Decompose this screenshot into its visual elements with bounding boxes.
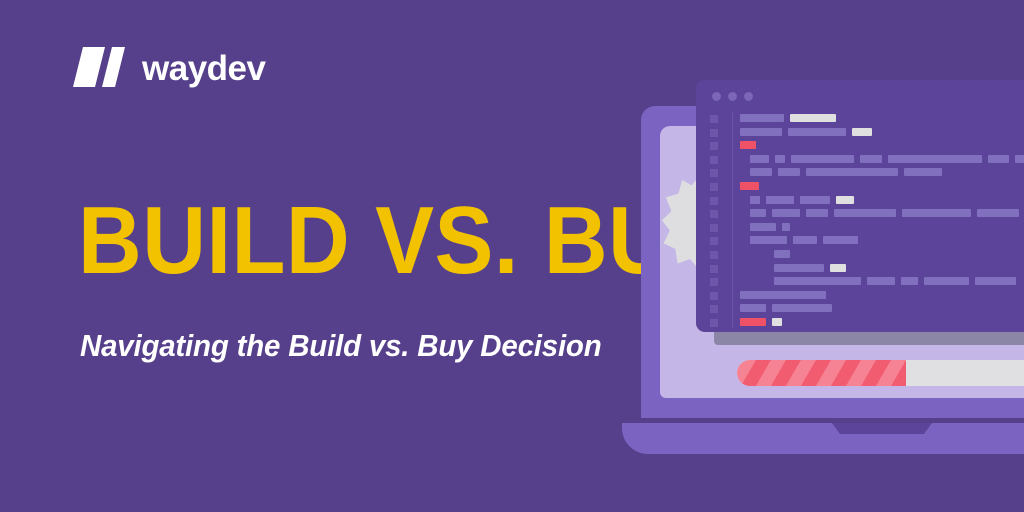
code-token [793,236,817,244]
window-titlebar [696,80,1024,109]
code-token [888,155,982,163]
code-token [750,236,787,244]
code-token [823,236,858,244]
gutter-marker [710,237,718,245]
gutter-marker [710,156,718,164]
code-token [774,250,790,258]
code-token [740,291,826,299]
code-token [791,155,854,163]
logo-bar-right [102,47,125,87]
page-subtitle: Navigating the Build vs. Buy Decision [80,328,602,364]
gutter-marker [710,169,718,177]
brand-name: waydev [142,51,265,86]
code-token [860,155,882,163]
gutter-divider [732,112,733,328]
poster-canvas: waydev BUILD VS. BUY Navigating the Buil… [0,0,1024,512]
gutter-marker [710,210,718,218]
code-token [772,209,800,217]
laptop-code-editor-illustration [610,72,1024,472]
code-token [772,304,832,312]
brand-logo: waydev [76,47,265,87]
code-token [774,277,861,285]
code-content-area [740,114,1024,332]
code-token [750,168,772,176]
code-token [834,209,896,217]
code-token [766,196,794,204]
window-maximize-dot-icon[interactable] [744,92,753,101]
code-token [977,209,1019,217]
code-token [740,182,759,190]
gutter-marker [710,183,718,191]
code-token [740,318,766,326]
code-token [740,128,782,136]
gutter-marker [710,278,718,286]
code-token [772,318,782,326]
code-editor-window [696,80,1024,332]
gutter-marker [710,129,718,137]
code-token [800,196,830,204]
code-token [778,168,800,176]
logo-bar-left [73,47,105,87]
gutter-marker [710,197,718,205]
code-token [975,277,1016,285]
code-token [740,114,784,122]
code-token [901,277,918,285]
code-token [904,168,942,176]
gutter-marker [710,142,718,150]
code-token [867,277,895,285]
gutter-marker [710,265,718,273]
code-token [852,128,872,136]
gutter-marker [710,305,718,313]
code-token [750,223,776,231]
window-minimize-dot-icon[interactable] [728,92,737,101]
code-token [1015,155,1024,163]
code-token [740,141,756,149]
gutter-marker [710,319,718,327]
progress-bar-fill [737,360,906,386]
window-close-dot-icon[interactable] [712,92,721,101]
gutter-marker [710,292,718,300]
code-token [806,168,898,176]
code-token [750,155,769,163]
gutter-marker [710,251,718,259]
code-token [902,209,971,217]
code-token [750,209,766,217]
line-number-gutter [696,109,732,332]
laptop-base-notch [832,423,932,434]
gutter-marker [710,115,718,123]
code-token [806,209,828,217]
code-token [740,304,766,312]
code-token [988,155,1009,163]
code-token [924,277,969,285]
code-token [782,223,790,231]
gutter-marker [710,224,718,232]
code-token [775,155,785,163]
code-token [788,128,846,136]
code-token [790,114,836,122]
code-token [774,264,824,272]
waydev-slash-mark-icon [76,47,128,87]
code-token [836,196,854,204]
code-token [750,196,760,204]
code-token [830,264,846,272]
laptop-base [622,423,1024,454]
